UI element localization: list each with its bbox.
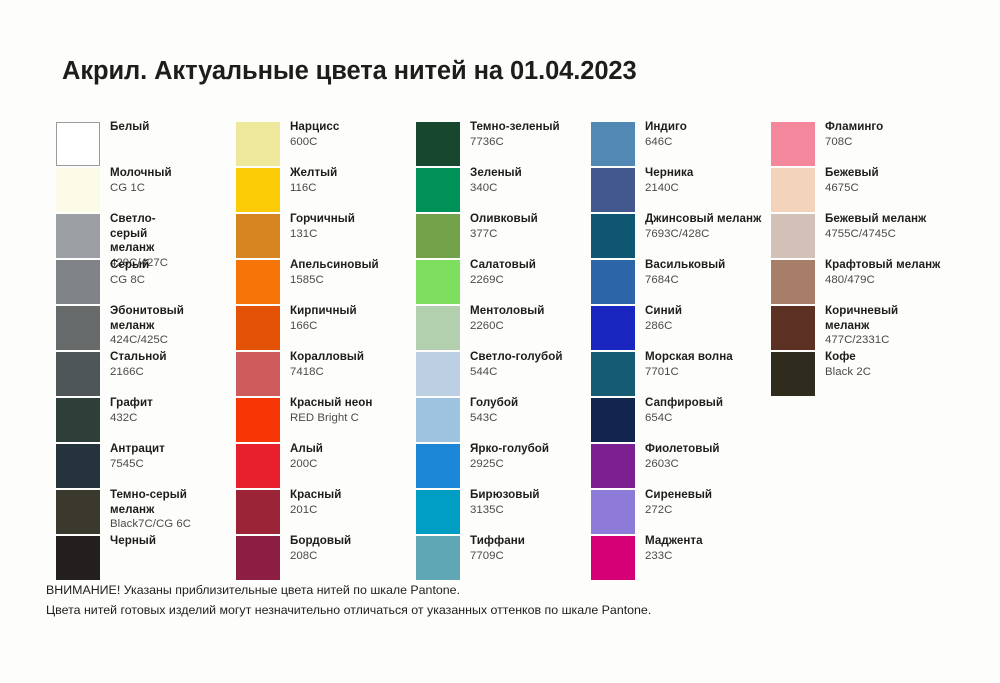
color-name: Кирпичный <box>290 304 357 319</box>
swatch-label-block: Бежевый меланж4755C/4745C <box>825 212 926 241</box>
swatch-label-block: Голубой543C <box>470 396 518 425</box>
color-name: Горчичный <box>290 212 355 227</box>
swatch-label-block: Эбонитовый меланж424C/425C <box>110 304 184 348</box>
color-name: Морская волна <box>645 350 733 365</box>
color-swatch <box>56 306 100 350</box>
swatch-label-block: Нарцисс600C <box>290 120 339 149</box>
color-swatch <box>56 352 100 396</box>
color-name: Ментоловый <box>470 304 544 319</box>
color-code: 480/479C <box>825 273 940 288</box>
color-swatch <box>236 352 280 396</box>
swatch-label-block: МолочныйCG 1C <box>110 166 172 195</box>
color-name: Апельсиновый <box>290 258 379 273</box>
color-swatch <box>56 536 100 580</box>
color-swatch <box>771 260 815 304</box>
color-swatch <box>416 260 460 304</box>
color-name: Молочный <box>110 166 172 181</box>
color-name: Оливковый <box>470 212 538 227</box>
color-code: 116C <box>290 181 337 196</box>
color-code: 3135C <box>470 503 540 518</box>
color-code: Black 2C <box>825 365 871 380</box>
color-name: Сиреневый <box>645 488 712 503</box>
swatch-label-block: Оливковый377C <box>470 212 538 241</box>
color-code: 2925C <box>470 457 549 472</box>
color-code: Black7C/CG 6C <box>110 517 191 532</box>
footer-line-2: Цвета нитей готовых изделий могут незнач… <box>46 600 946 620</box>
color-swatch <box>591 260 635 304</box>
color-name: Светло-голубой <box>470 350 563 365</box>
color-swatch <box>236 214 280 258</box>
color-name: Джинсовый меланж <box>645 212 761 227</box>
color-name: Графит <box>110 396 153 411</box>
color-swatch <box>416 352 460 396</box>
page-title: Акрил. Актуальные цвета нитей на 01.04.2… <box>62 57 637 86</box>
swatch-label-block: Ментоловый2260C <box>470 304 544 333</box>
swatch-label-block: Красный201C <box>290 488 341 517</box>
color-swatch <box>591 306 635 350</box>
color-name: Серый <box>110 258 149 273</box>
swatch-label-block: Антрацит7545C <box>110 442 165 471</box>
swatch-label-block: Стальной2166C <box>110 350 167 379</box>
color-code: 286C <box>645 319 682 334</box>
swatch-label-block: Крафтовый меланж480/479C <box>825 258 940 287</box>
color-swatch <box>416 536 460 580</box>
footer-line-1: ВНИМАНИЕ! Указаны приблизительные цвета … <box>46 580 946 600</box>
color-code: 233C <box>645 549 703 564</box>
color-code: 4675C <box>825 181 879 196</box>
color-code: 708C <box>825 135 883 150</box>
swatch-label-block: Горчичный131C <box>290 212 355 241</box>
footer-notes: ВНИМАНИЕ! Указаны приблизительные цвета … <box>46 580 946 620</box>
color-name: Зеленый <box>470 166 522 181</box>
color-name: Коричневый меланж <box>825 304 898 333</box>
swatch-label-block: Фиолетовый2603C <box>645 442 720 471</box>
swatch-label-block: Ярко-голубой2925C <box>470 442 549 471</box>
color-name: Маджента <box>645 534 703 549</box>
color-name: Бежевый <box>825 166 879 181</box>
swatch-label-block: Темно-серый меланжBlack7C/CG 6C <box>110 488 191 532</box>
color-swatch <box>591 398 635 442</box>
color-swatch <box>416 306 460 350</box>
swatch-label-block: Апельсиновый1585C <box>290 258 379 287</box>
color-code: 424C/425C <box>110 333 184 348</box>
color-swatch <box>236 490 280 534</box>
swatch-label-block: Бордовый208C <box>290 534 351 563</box>
color-code: 544C <box>470 365 563 380</box>
color-code: 200C <box>290 457 323 472</box>
swatch-label-block: Светло-голубой544C <box>470 350 563 379</box>
color-code: 543C <box>470 411 518 426</box>
swatch-label-block: Сиреневый272C <box>645 488 712 517</box>
swatch-label-block: Васильковый7684C <box>645 258 725 287</box>
swatch-label-block: Маджента233C <box>645 534 703 563</box>
color-swatch <box>591 536 635 580</box>
color-swatch <box>56 444 100 488</box>
color-name: Бордовый <box>290 534 351 549</box>
color-name: Индиго <box>645 120 687 135</box>
swatch-label-block: Коричневый меланж477C/2331C <box>825 304 898 348</box>
color-code: CG 1C <box>110 181 172 196</box>
color-code: 7545C <box>110 457 165 472</box>
color-swatch <box>236 260 280 304</box>
color-code: 272C <box>645 503 712 518</box>
swatch-label-block: Коралловый7418C <box>290 350 364 379</box>
color-code: 4755C/4745C <box>825 227 926 242</box>
color-code: 131C <box>290 227 355 242</box>
color-name: Коралловый <box>290 350 364 365</box>
color-swatch <box>591 214 635 258</box>
color-code: 7684C <box>645 273 725 288</box>
color-name: Фламинго <box>825 120 883 135</box>
color-name: Кофе <box>825 350 871 365</box>
swatch-label-block: Тиффани7709C <box>470 534 525 563</box>
color-code: 7736C <box>470 135 560 150</box>
color-name: Желтый <box>290 166 337 181</box>
color-swatch <box>236 536 280 580</box>
color-name: Эбонитовый меланж <box>110 304 184 333</box>
color-swatch <box>56 398 100 442</box>
color-name: Салатовый <box>470 258 536 273</box>
color-name: Ярко-голубой <box>470 442 549 457</box>
color-swatch <box>591 444 635 488</box>
color-name: Стальной <box>110 350 167 365</box>
swatch-label-block: Индиго646C <box>645 120 687 149</box>
color-swatch <box>416 444 460 488</box>
color-name: Светло-серый меланж <box>110 212 168 256</box>
color-name: Черный <box>110 534 156 549</box>
color-swatch <box>771 352 815 396</box>
swatch-label-block: Кирпичный166C <box>290 304 357 333</box>
color-swatch <box>416 122 460 166</box>
color-code: 2269C <box>470 273 536 288</box>
color-code: 2140C <box>645 181 693 196</box>
color-swatch <box>416 214 460 258</box>
swatch-label-block: Черника2140C <box>645 166 693 195</box>
color-swatch <box>56 490 100 534</box>
color-swatch <box>591 168 635 212</box>
color-name: Сапфировый <box>645 396 723 411</box>
swatch-label-block: Красный неонRED Bright C <box>290 396 372 425</box>
color-swatch <box>236 168 280 212</box>
color-code: 432C <box>110 411 153 426</box>
color-code: 166C <box>290 319 357 334</box>
color-name: Красный <box>290 488 341 503</box>
swatch-label-block: КофеBlack 2C <box>825 350 871 379</box>
swatch-label-block: Салатовый2269C <box>470 258 536 287</box>
color-name: Антрацит <box>110 442 165 457</box>
color-code: 201C <box>290 503 341 518</box>
swatch-label-block: Морская волна7701C <box>645 350 733 379</box>
color-swatch <box>416 168 460 212</box>
color-swatch <box>236 122 280 166</box>
color-swatch <box>771 214 815 258</box>
color-swatch <box>56 260 100 304</box>
color-name: Алый <box>290 442 323 457</box>
color-name: Бежевый меланж <box>825 212 926 227</box>
color-code: 208C <box>290 549 351 564</box>
color-code: 2260C <box>470 319 544 334</box>
color-code: CG 8C <box>110 273 149 288</box>
color-name: Черника <box>645 166 693 181</box>
color-name: Красный неон <box>290 396 372 411</box>
swatch-label-block: СерыйCG 8C <box>110 258 149 287</box>
color-swatch <box>771 122 815 166</box>
color-swatch <box>236 398 280 442</box>
color-swatch <box>591 490 635 534</box>
color-name: Синий <box>645 304 682 319</box>
color-chart-page: Акрил. Актуальные цвета нитей на 01.04.2… <box>0 0 1000 683</box>
color-swatch <box>236 306 280 350</box>
color-swatch <box>236 444 280 488</box>
swatch-label-block: Бирюзовый3135C <box>470 488 540 517</box>
color-swatch <box>416 398 460 442</box>
color-code: 2603C <box>645 457 720 472</box>
color-code: 7418C <box>290 365 364 380</box>
color-swatch <box>56 214 100 258</box>
color-name: Тиффани <box>470 534 525 549</box>
color-code: 477C/2331C <box>825 333 898 348</box>
color-code: 7693C/428C <box>645 227 761 242</box>
color-name: Голубой <box>470 396 518 411</box>
color-swatch <box>771 168 815 212</box>
color-code: 1585C <box>290 273 379 288</box>
color-swatch <box>416 490 460 534</box>
swatch-label-block: Желтый116C <box>290 166 337 195</box>
color-swatch <box>56 168 100 212</box>
swatch-label-block: Синий286C <box>645 304 682 333</box>
color-code: 600C <box>290 135 339 150</box>
swatch-label-block: Бежевый4675C <box>825 166 879 195</box>
swatch-label-block: Темно-зеленый7736C <box>470 120 560 149</box>
color-name: Темно-серый меланж <box>110 488 191 517</box>
color-name: Темно-зеленый <box>470 120 560 135</box>
color-name: Крафтовый меланж <box>825 258 940 273</box>
color-swatch <box>591 122 635 166</box>
color-name: Фиолетовый <box>645 442 720 457</box>
color-code: 377C <box>470 227 538 242</box>
swatch-label-block: Джинсовый меланж7693C/428C <box>645 212 761 241</box>
swatch-label-block: Сапфировый654C <box>645 396 723 425</box>
swatch-label-block: Графит432C <box>110 396 153 425</box>
color-name: Белый <box>110 120 149 135</box>
color-swatch <box>56 122 100 166</box>
swatch-label-block: Белый <box>110 120 149 135</box>
color-code: 7709C <box>470 549 525 564</box>
color-name: Васильковый <box>645 258 725 273</box>
swatch-label-block: Алый200C <box>290 442 323 471</box>
color-code: 7701C <box>645 365 733 380</box>
swatch-label-block: Фламинго708C <box>825 120 883 149</box>
color-swatch <box>771 306 815 350</box>
color-code: RED Bright C <box>290 411 372 426</box>
color-code: 340C <box>470 181 522 196</box>
color-name: Нарцисс <box>290 120 339 135</box>
color-swatch <box>591 352 635 396</box>
color-code: 2166C <box>110 365 167 380</box>
color-name: Бирюзовый <box>470 488 540 503</box>
color-code: 646C <box>645 135 687 150</box>
swatch-label-block: Зеленый340C <box>470 166 522 195</box>
color-code: 654C <box>645 411 723 426</box>
swatch-label-block: Черный <box>110 534 156 549</box>
